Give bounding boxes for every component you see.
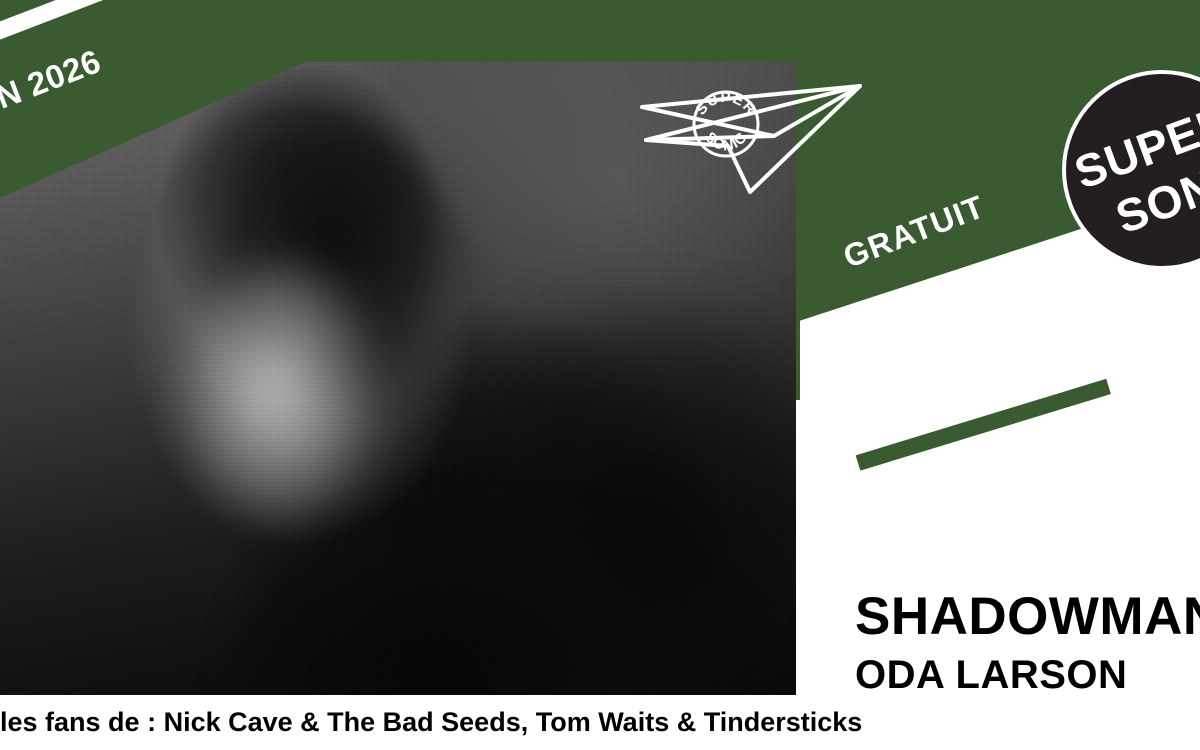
paper-plane-icon: SUPER SONIC [628, 80, 878, 200]
concert-poster: UIN 2026 GRATUIT SUPER SONIC [0, 0, 1200, 750]
tagline-text: r les fans de : Nick Cave & The Bad Seed… [0, 707, 862, 738]
support-act-title: ODA LARSON [855, 653, 1127, 698]
svg-text:SUPER: SUPER [692, 89, 759, 118]
headliner-title: SHADOWMAN [855, 586, 1200, 647]
